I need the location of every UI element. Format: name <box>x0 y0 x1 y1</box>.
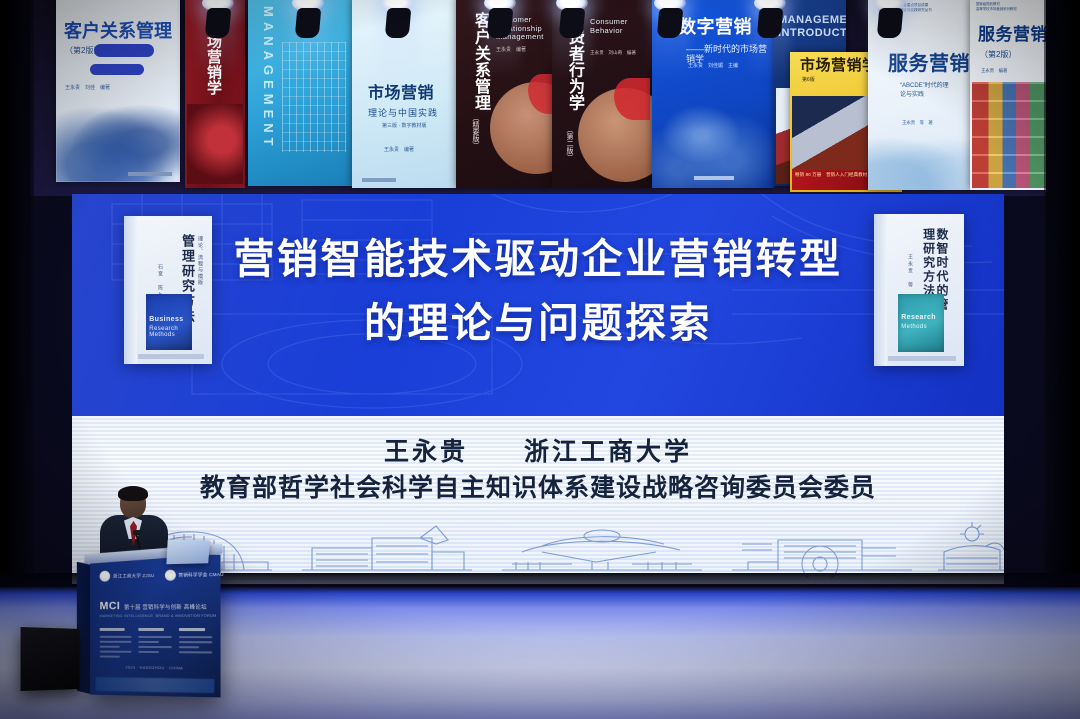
speaker-committee-title: 教育部哲学社会科学自主知识体系建设战略咨询委员会委员 <box>72 468 1004 504</box>
book-edition: （第2版） <box>980 50 1016 59</box>
book-photo-art <box>187 104 243 184</box>
book-title: 消费者行为学 <box>560 12 582 111</box>
podium-headline: MCI 第十届 营销科学与创新 高峰论坛 <box>100 600 213 613</box>
author-line: 王永贵 编著 <box>384 148 414 154</box>
book-title-letters: MANAGEMENT <box>257 6 275 151</box>
podium-text-line <box>139 646 172 648</box>
podium-text-line <box>139 636 172 638</box>
redaction-bar <box>94 44 154 57</box>
publisher-bar <box>128 172 172 176</box>
podium-text-line <box>179 646 200 648</box>
book-subtitle: “ABCDE”时代的理论与实践 <box>900 82 954 100</box>
book-edition-note: 第三版 · 数字教材版 <box>382 124 426 130</box>
publisher-bar <box>138 354 204 359</box>
book-cover-consumer-behavior: 消费者行为学 （第二版） Consumer Behavior 王永贵 刘山奇 编… <box>552 0 652 188</box>
book-title: 客户关系管理 <box>466 12 488 111</box>
book-inset-card: Research Methods <box>898 294 944 352</box>
podium-column <box>179 628 213 662</box>
podium-text-line <box>179 636 213 638</box>
book-subtitle: 理论与中国实践 <box>368 108 438 118</box>
podium-logo-conference: 营销科学学会 CMAU <box>164 569 223 581</box>
podium-text-line <box>179 628 205 631</box>
stage-speaker-cabinet <box>21 627 80 691</box>
book-inset-card: Business Research Methods <box>146 294 192 350</box>
podium-logo-label: 营销科学学会 CMAU <box>178 572 223 578</box>
podium-text-columns <box>100 628 213 662</box>
author-line: 王永贵 刘佳 编著 <box>65 84 110 91</box>
book-edition: 第6版 <box>802 78 815 84</box>
stage-mask-right <box>1044 0 1080 600</box>
speaker-name-affiliation: 王永贵 浙江工商大学 <box>72 432 1004 468</box>
inset-title: Business <box>149 316 189 323</box>
book-cover-marketing-studies-red: 市场营销学 <box>185 0 245 188</box>
book-cover-management-cyan: MANAGEMENT <box>248 0 352 186</box>
book-subtitle: ——新时代的市场营销学 <box>686 44 774 65</box>
inset-subtitle: Methods <box>901 324 941 330</box>
coast-artwork <box>868 136 972 190</box>
book-cover-service-marketing-abcde: 国家社会科学基金重点项目成果中国服务营销理论与实践研究丛书 服务营销 “ABCD… <box>868 0 972 190</box>
podium-text-line <box>100 628 125 631</box>
podium-text-line <box>139 641 159 643</box>
podium-bottom-light-strip <box>96 677 215 693</box>
book-subtitle: 理论、流程与模版 <box>196 236 202 286</box>
book-edition: （精要版） <box>467 114 479 149</box>
podium-footer-text: 2024 · HANGZHOU · CHINA <box>90 664 220 671</box>
floor-light-reflection <box>180 641 900 711</box>
book-cover-digital-intelligence-research-methods: 数智时代的管理研究方法 王永贵 等 著 Research Methods <box>874 214 964 366</box>
series-note: 国家社会科学基金重点项目成果中国服务营销理论与实践研究丛书 <box>878 3 964 14</box>
book-cover-marketing-theory-china: 市场营销 理论与中国实践 第三版 · 数字教材版 王永贵 编著 <box>352 0 456 188</box>
book-title: 服务营销 <box>888 54 970 75</box>
book-title-en: Customer Relationship Management <box>496 16 546 42</box>
author-line: 王永贵 刘佳媚 主编 <box>688 64 738 70</box>
podium-text-line <box>100 636 132 638</box>
podium-text-line <box>100 656 120 658</box>
book-title: 市场营销 <box>368 86 434 103</box>
publisher-bar <box>694 176 734 180</box>
book-cover-crm-2nd: 客户关系管理 （第2版） 王永贵 刘佳 编著 <box>56 0 180 182</box>
ink-wash-artwork <box>56 96 180 182</box>
book-cover-service-marketing-2nd: 国家级规划教材高等学校市场营销系列教材 服务营销 （第2版） 王永贵 编著 <box>970 0 1046 190</box>
photo-collage-artwork <box>972 82 1046 188</box>
stage-mask-left <box>0 0 34 592</box>
conference-seal-icon <box>164 570 175 581</box>
podium-text-line <box>100 641 132 643</box>
redaction-bar <box>90 64 144 75</box>
confidence-monitor <box>166 540 210 565</box>
podium-conference-title-cn: 第十届 营销科学与创新 高峰论坛 <box>124 603 207 612</box>
publisher-bar <box>888 356 956 361</box>
podium-text-line <box>139 651 159 653</box>
podium-front-panel: 浙江工商大学 ZJSU 营销科学学会 CMAU MCI 第十届 营销科学与创新 … <box>90 555 220 698</box>
book-cover-digital-marketing: 数字营销 ——新时代的市场营销学 王永贵 刘佳媚 主编 <box>652 0 774 188</box>
book-title: 市场营销学 <box>800 58 878 74</box>
podium-text-line <box>179 651 213 653</box>
book-grid-art <box>282 42 346 152</box>
podium-conference-title-en: MARKETING INTELLIGENCE, BRAND & INNOVATI… <box>100 614 213 618</box>
book-cover-wall: 客户关系管理 （第2版） 王永贵 刘佳 编著 市场营销学 MANAGEMENT <box>30 0 1046 196</box>
auditorium-stage-scene: 客户关系管理 （第2版） 王永贵 刘佳 编著 市场营销学 MANAGEMENT <box>0 0 1080 719</box>
podium-logo-label: 浙江工商大学 ZJSU <box>113 573 154 579</box>
author-line: 王永贵 刘山奇 编著 <box>590 50 636 55</box>
book-title: 客户关系管理 <box>64 22 172 41</box>
book-title-en: MANAGEMENT INTRODUCTION <box>778 14 844 40</box>
author-line: 王永贵 编著 <box>981 68 1007 73</box>
book-title: 服务营销 <box>978 26 1046 44</box>
book-edition: （第二版） <box>561 126 573 161</box>
podium-text-line <box>100 646 120 648</box>
book-title: 数字营销 <box>678 18 752 37</box>
publisher-bar <box>362 178 396 182</box>
book-spine <box>124 216 137 364</box>
podium-column <box>139 628 172 661</box>
podium-logo-university: 浙江工商大学 ZJSU <box>100 570 155 582</box>
network-artwork <box>652 80 774 188</box>
podium-text-line <box>100 651 132 653</box>
podium-column <box>100 628 132 661</box>
book-spine <box>874 214 887 366</box>
slide-title-band: 营销智能技术驱动企业营销转型 的理论与问题探索 管理研究方法 理论、流程与模版 … <box>72 194 1004 416</box>
inset-subtitle: Research Methods <box>149 326 189 338</box>
author-line: 王永贵 等 著 <box>902 120 933 125</box>
lectern-podium: 浙江工商大学 ZJSU 营销科学学会 CMAU MCI 第十届 营销科学与创新 … <box>90 555 220 698</box>
podium-acronym: MCI <box>100 600 121 612</box>
book-title: 市场营销学 <box>201 18 221 96</box>
podium-text-line <box>179 641 213 643</box>
university-seal-icon <box>100 571 111 582</box>
podium-text-line <box>139 628 165 631</box>
book-title-en: Consumer Behavior <box>590 18 648 35</box>
series-note: 国家级规划教材高等学校市场营销系列教材 <box>976 2 1045 12</box>
podium-logo-row: 浙江工商大学 ZJSU 营销科学学会 CMAU <box>100 569 224 582</box>
inset-title: Research <box>901 314 941 321</box>
author-line: 王永贵 编著 <box>496 48 526 54</box>
book-cover-management-research-methods: 管理研究方法 理论、流程与模版 石宽 陈久久 著 Business Resear… <box>124 216 212 364</box>
book-cover-crm-essentials: 客户关系管理 （精要版） Customer Relationship Manag… <box>456 0 552 188</box>
speaker-hair <box>118 486 148 501</box>
led-presentation-screen: 客户关系管理 （第2版） 王永贵 刘佳 编著 市场营销学 MANAGEMENT <box>30 0 1046 588</box>
